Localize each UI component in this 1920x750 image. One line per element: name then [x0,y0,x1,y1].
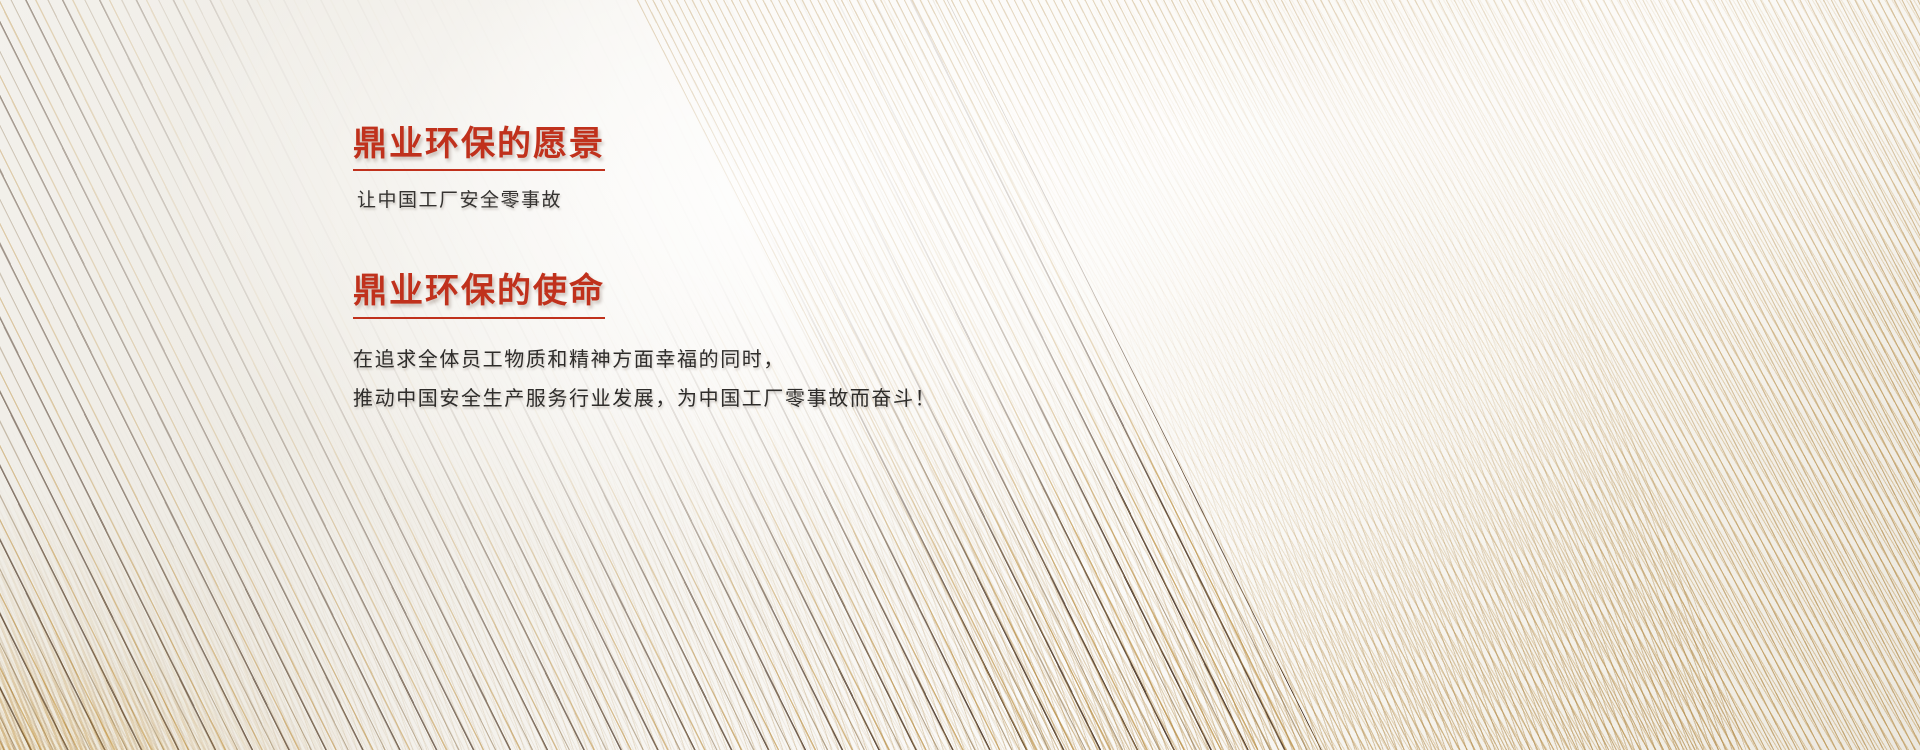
banner-root: 鼎业环保的愿景 让中国工厂安全零事故 鼎业环保的使命 在追求全体员工物质和精神方… [0,0,1920,750]
section-mission: 鼎业环保的使命 在追求全体员工物质和精神方面幸福的同时， 推动中国安全生产服务行… [353,272,1253,418]
section-vision: 鼎业环保的愿景 让中国工厂安全零事故 [353,125,1253,212]
mission-heading: 鼎业环保的使命 [353,272,605,318]
mission-body: 在追求全体员工物质和精神方面幸福的同时， 推动中国安全生产服务行业发展，为中国工… [353,341,1253,419]
mission-body-line: 推动中国安全生产服务行业发展，为中国工厂零事故而奋斗！ [353,380,1253,419]
banner-content: 鼎业环保的愿景 让中国工厂安全零事故 鼎业环保的使命 在追求全体员工物质和精神方… [353,125,1253,419]
mission-body-line: 在追求全体员工物质和精神方面幸福的同时， [353,341,1253,380]
vision-heading: 鼎业环保的愿景 [353,125,605,171]
vision-subtitle: 让中国工厂安全零事故 [357,185,1253,212]
